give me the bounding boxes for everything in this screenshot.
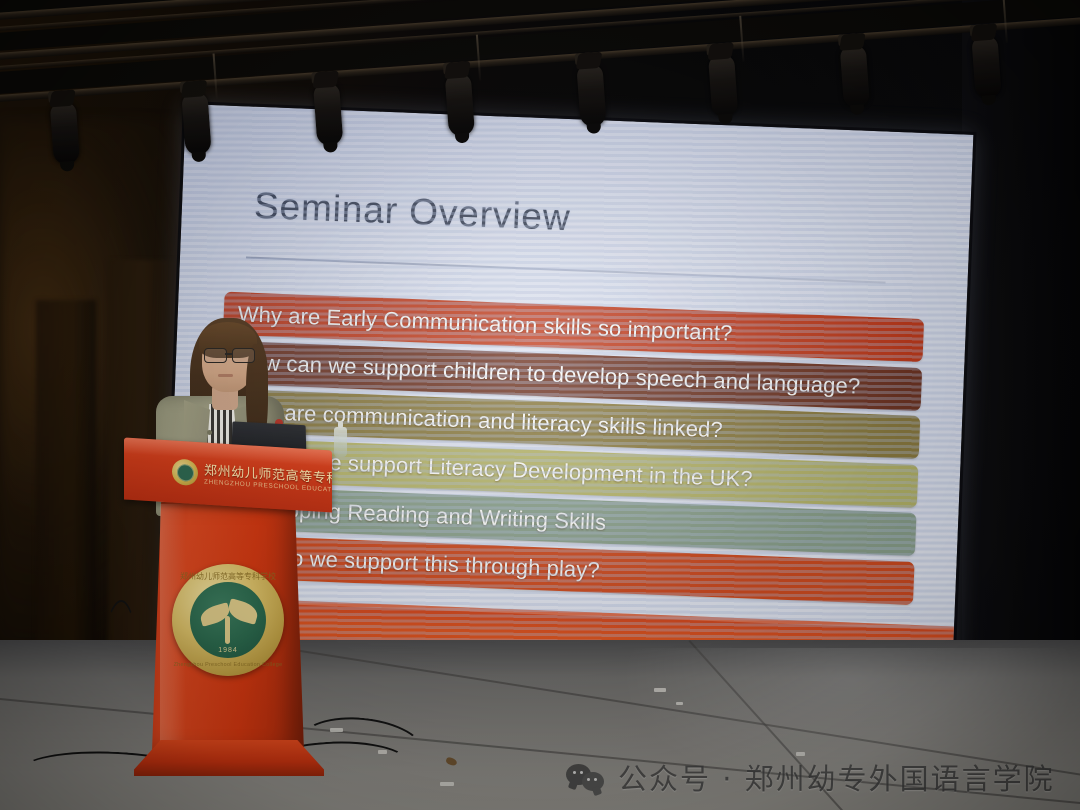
stage-light	[840, 45, 870, 109]
stage-light	[181, 92, 211, 156]
slide-title: Seminar Overview	[253, 185, 571, 239]
emblem-ring-text-cn: 郑州幼儿师范高等专科学校	[172, 571, 284, 582]
stage-light	[971, 35, 1001, 99]
wall-pillar-secondary	[36, 300, 96, 650]
emblem-center: 1984	[190, 582, 266, 658]
emblem-stem-icon	[225, 616, 230, 644]
watermark: 公众号 · 郑州幼专外国语言学院	[566, 756, 1055, 798]
lectern-banner: 郑州幼儿师范高等专科学校 ZHENGZHOU PRESCHOOL EDUCATI…	[124, 437, 332, 512]
presenter-glasses	[202, 348, 256, 362]
glasses-lens-right	[232, 348, 255, 363]
stage-photo: Seminar Overview Why are Early Communica…	[0, 0, 1080, 810]
stage-light	[313, 83, 343, 147]
wechat-bubble-small	[582, 772, 604, 791]
college-logo-icon	[172, 458, 198, 486]
stage-light	[50, 101, 80, 165]
floor-debris	[445, 756, 458, 766]
stage-light	[576, 64, 606, 128]
college-emblem: 郑州幼儿师范高等专科学校 1984 Zhengzhou Preschool Ed…	[172, 564, 284, 676]
presenter-mouth	[218, 374, 233, 377]
emblem-leaf-icon	[226, 598, 260, 625]
floor-speck	[440, 782, 454, 786]
wechat-icon	[566, 762, 606, 792]
stage-light	[708, 54, 738, 118]
emblem-ring-text-en: Zhengzhou Preschool Education College	[172, 662, 284, 668]
watermark-text: 公众号 · 郑州幼专外国语言学院	[618, 756, 1055, 798]
glasses-bridge	[225, 353, 232, 355]
glasses-lens-left	[204, 348, 227, 363]
jacket-button	[207, 430, 212, 435]
emblem-year: 1984	[190, 647, 266, 654]
lectern: 郑州幼儿师范高等专科学校 1984 Zhengzhou Preschool Ed…	[124, 444, 354, 804]
lectern-base	[134, 740, 324, 776]
slide-title-rule	[246, 256, 886, 283]
stage-light	[445, 73, 475, 137]
